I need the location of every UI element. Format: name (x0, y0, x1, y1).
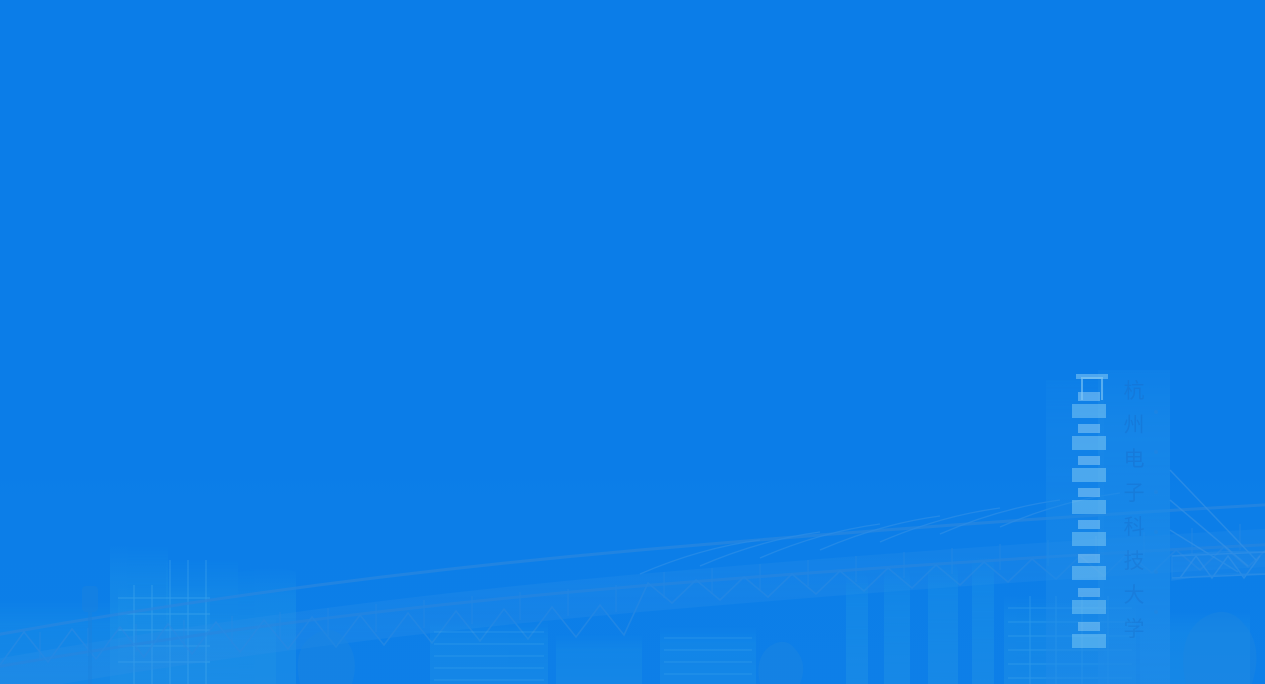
campus-scene: 杭 州 电 子 科 技 大 学 (0, 0, 1265, 684)
svg-text:州: 州 (1124, 413, 1145, 437)
svg-text:电: 电 (1124, 447, 1145, 471)
scene-haze (0, 470, 1265, 684)
event-poster: 杭 州 电 子 科 技 大 学 (0, 0, 1265, 684)
svg-text:杭: 杭 (1124, 379, 1145, 403)
